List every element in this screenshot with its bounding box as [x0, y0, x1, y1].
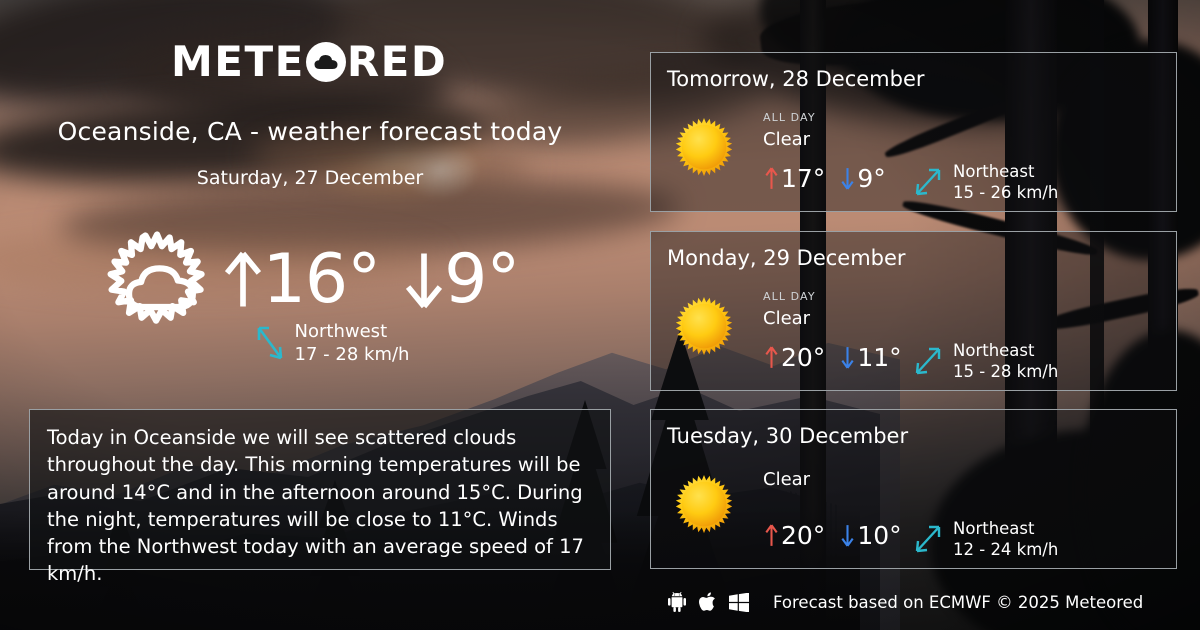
sun-icon — [673, 474, 735, 536]
arrow-up-icon — [763, 166, 780, 191]
forecast-card[interactable]: Monday, 29 December ALL DAY Clear 20° — [650, 231, 1177, 391]
forecast-card-condition: ALL DAY Clear — [763, 110, 816, 152]
forecast-description-box: Today in Oceanside we will see scattered… — [29, 409, 611, 570]
forecast-card-wind-speed: 15 - 26 km/h — [953, 182, 1058, 203]
arrow-down-icon — [839, 523, 856, 548]
forecast-card-wind-direction: Northeast — [953, 518, 1058, 539]
forecast-card-wind: Northeast 15 - 26 km/h — [913, 161, 1058, 204]
arrow-up-icon — [221, 250, 265, 310]
page-title: Oceanside, CA - weather forecast today — [0, 117, 620, 146]
sun-icon — [673, 296, 735, 358]
current-wind-text: Northwest 17 - 28 km/h — [295, 320, 410, 366]
forecast-card-temperatures: 17° 9° — [763, 166, 886, 191]
forecast-card-wind-text: Northeast 15 - 26 km/h — [953, 161, 1058, 204]
forecast-card-wind-text: Northeast 12 - 24 km/h — [953, 518, 1058, 561]
forecast-card-wind-speed: 15 - 28 km/h — [953, 361, 1058, 382]
forecast-card-wind-direction: Northeast — [953, 161, 1058, 182]
arrow-down-icon — [402, 250, 446, 310]
forecast-card-wind-direction: Northeast — [953, 340, 1058, 361]
forecast-card-temperatures: 20° 10° — [763, 523, 902, 548]
arrow-up-icon — [763, 523, 780, 548]
forecast-card-condition: Clear — [763, 467, 810, 492]
forecast-card-min-temp: 9° — [839, 166, 885, 191]
forecast-card-date: Tuesday, 30 December — [667, 424, 908, 448]
forecast-card-min-temp-value: 11° — [857, 345, 901, 370]
logo-text-left: METE — [171, 41, 305, 83]
forecast-card-max-temp: 20° — [763, 345, 825, 370]
forecast-card[interactable]: Tuesday, 30 December Clear 20° — [650, 409, 1177, 569]
current-min-temp: 9° — [402, 246, 519, 314]
arrow-down-icon — [839, 166, 856, 191]
forecast-card-max-temp-value: 17° — [781, 166, 825, 191]
arrow-down-icon — [839, 345, 856, 370]
forecast-card-period-label: ALL DAY — [763, 110, 816, 127]
current-temperatures: 16° 9° — [221, 246, 520, 314]
forecast-card[interactable]: Tomorrow, 28 December ALL DAY Clear 17° — [650, 52, 1177, 212]
wind-direction-northeast-icon — [913, 166, 943, 198]
forecast-card-min-temp-value: 9° — [857, 166, 885, 191]
forecast-card-wind: Northeast 15 - 28 km/h — [913, 340, 1058, 383]
forecast-card-wind-speed: 12 - 24 km/h — [953, 539, 1058, 560]
forecast-card-wind-text: Northeast 15 - 28 km/h — [953, 340, 1058, 383]
forecast-card-date: Monday, 29 December — [667, 246, 906, 270]
forecast-card-min-temp: 11° — [839, 345, 901, 370]
forecast-credit: Forecast based on ECMWF © 2025 Meteored — [773, 593, 1143, 612]
logo-text-right: RED — [347, 41, 447, 83]
current-max-temp-value: 16° — [263, 246, 381, 314]
forecast-card-max-temp: 20° — [763, 523, 825, 548]
current-max-temp: 16° — [221, 246, 381, 314]
current-wind-direction: Northwest — [295, 320, 410, 343]
forecast-card-min-temp-value: 10° — [857, 523, 901, 548]
current-wind-speed: 17 - 28 km/h — [295, 343, 410, 366]
windows-icon[interactable] — [729, 593, 749, 612]
forecast-card-min-temp: 10° — [839, 523, 901, 548]
meteored-logo[interactable]: METE RED — [171, 41, 447, 83]
forecast-card-wind: Northeast 12 - 24 km/h — [913, 518, 1058, 561]
current-wind: Northwest 17 - 28 km/h — [0, 320, 620, 366]
wind-direction-northeast-icon — [913, 345, 943, 377]
forecast-card-period-label: ALL DAY — [763, 289, 816, 306]
forecast-card-max-temp-value: 20° — [781, 345, 825, 370]
footer: Forecast based on ECMWF © 2025 Meteored — [668, 592, 1143, 612]
forecast-card-condition-text: Clear — [763, 306, 816, 331]
wind-direction-northeast-icon — [913, 523, 943, 555]
current-date: Saturday, 27 December — [0, 167, 620, 189]
forecast-description-text: Today in Oceanside we will see scattered… — [47, 424, 593, 588]
forecast-card-temperatures: 20° 11° — [763, 345, 902, 370]
android-icon[interactable] — [668, 592, 686, 612]
cloud-icon — [306, 42, 346, 82]
forecast-card-condition-text: Clear — [763, 467, 810, 492]
wind-direction-northwest-icon — [253, 324, 287, 362]
forecast-card-max-temp: 17° — [763, 166, 825, 191]
forecast-card-date: Tomorrow, 28 December — [667, 67, 925, 91]
forecast-card-condition-text: Clear — [763, 127, 816, 152]
arrow-up-icon — [763, 345, 780, 370]
sun-icon — [673, 117, 735, 179]
forecast-card-max-temp-value: 20° — [781, 523, 825, 548]
apple-icon[interactable] — [699, 592, 716, 612]
os-icon-list — [668, 592, 749, 612]
current-min-temp-value: 9° — [444, 246, 519, 314]
forecast-card-condition: ALL DAY Clear — [763, 289, 816, 331]
